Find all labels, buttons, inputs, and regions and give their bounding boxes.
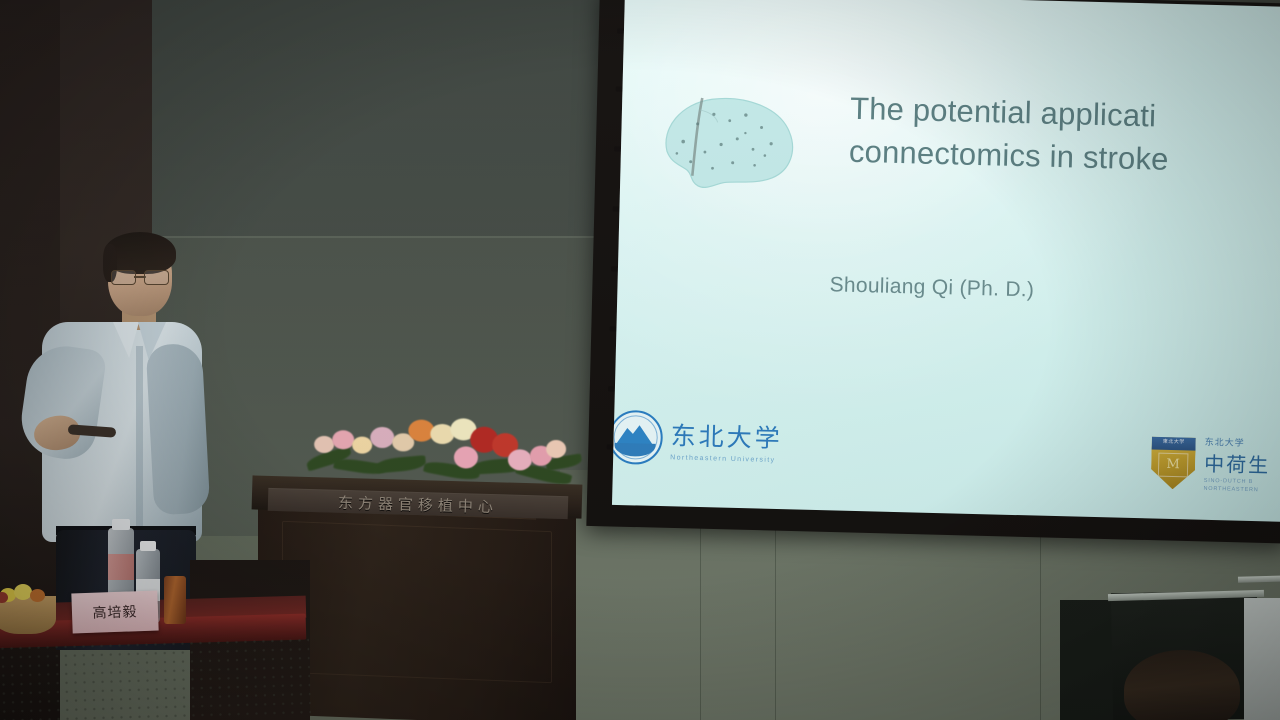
glasses-icon (111, 270, 169, 283)
presentation-slide: The potential applicati connectomics in … (612, 0, 1280, 522)
slide-title-line-2: connectomics in stroke (848, 130, 1280, 187)
presentation-photo: The potential applicati connectomics in … (0, 0, 1280, 720)
partition-rail-right (1238, 575, 1280, 583)
sino-dutch-logo: 東北大学 M 东北大学 中荷生 SINO-DUTCH B NORTHEASTER… (1150, 433, 1270, 494)
beverage-can (164, 576, 186, 624)
slide-title: The potential applicati connectomics in … (848, 88, 1280, 188)
fruit-bowl (0, 596, 56, 634)
northeastern-university-logo: 东北大学 Northeastern University (612, 410, 783, 468)
sino-logo-chinese: 中荷生 (1204, 448, 1271, 479)
audience-member-head (1124, 650, 1240, 720)
shield-crest-icon: 東北大学 M (1151, 437, 1196, 490)
slide-author: Shouliang Qi (Ph. D.) (829, 273, 1034, 302)
neu-emblem-icon (612, 410, 663, 465)
neu-logo-english: Northeastern University (670, 454, 782, 464)
brain-network-icon (652, 89, 805, 198)
table-front-panel (0, 636, 311, 720)
name-card: 高培毅 (71, 591, 158, 634)
wall-seam-horizontal (150, 236, 650, 238)
floral-arrangement (299, 412, 582, 497)
speaker-shirt-placket (136, 346, 143, 536)
speaker-right-arm (146, 343, 211, 516)
sino-logo-english-2: NORTHEASTERN (1203, 485, 1269, 495)
neu-logo-chinese: 东北大学 (670, 416, 783, 455)
light-board-right (1244, 598, 1280, 720)
wall-panel-upper (150, 0, 650, 250)
